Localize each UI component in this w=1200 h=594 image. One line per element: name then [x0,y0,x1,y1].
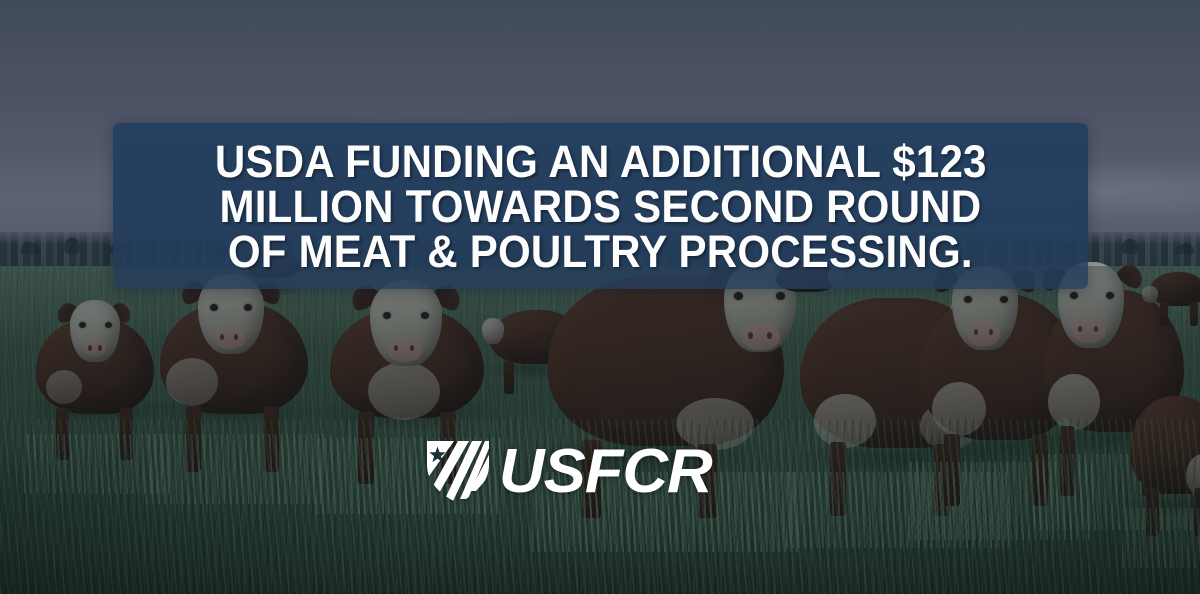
headline-line-3: OF MEAT & POULTRY PROCESSING. [228,229,973,274]
headline-line-1: USDA FUNDING AN ADDITIONAL $123 [215,139,987,184]
headline-banner: USDA FUNDING AN ADDITIONAL $123 MILLION … [113,123,1088,289]
social-graphic-canvas: USDA FUNDING AN ADDITIONAL $123 MILLION … [0,0,1200,594]
shield-star-stripes-icon [424,439,492,505]
headline-line-2: MILLION TOWARDS SECOND ROUND [220,184,982,229]
usfcr-logo: USFCR [424,436,776,508]
usfcr-wordmark: USFCR [499,441,712,503]
